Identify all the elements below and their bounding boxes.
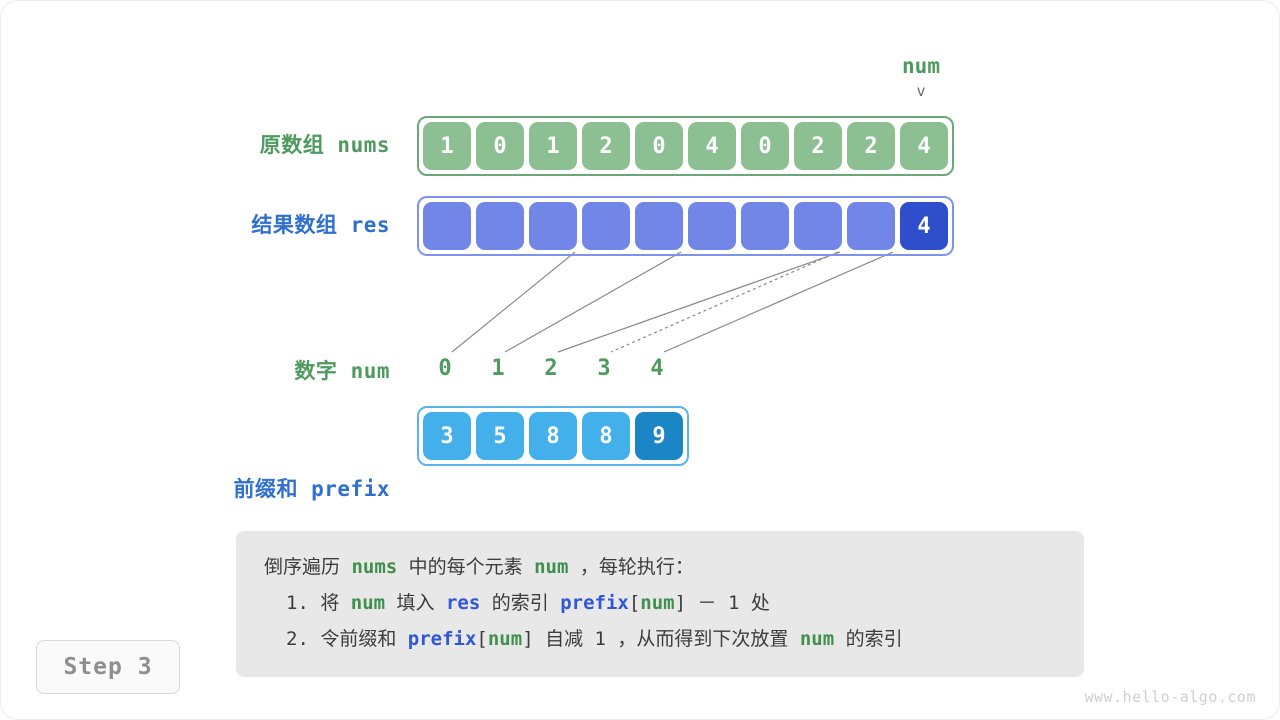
caption-keyword-num: num xyxy=(800,628,834,650)
res-cell xyxy=(476,202,524,250)
caption-keyword-num: num xyxy=(534,556,568,578)
num-tick: 2 xyxy=(527,356,575,381)
caption-text: ，每轮执行： xyxy=(568,556,693,578)
caption-text: 2. 令前缀和 xyxy=(286,628,408,650)
num-pointer: num v xyxy=(876,54,966,99)
num-tick: 0 xyxy=(421,356,469,381)
caption-keyword-num: num xyxy=(640,592,674,614)
res-cell xyxy=(847,202,895,250)
connector-line-num1 xyxy=(505,252,681,352)
caption-text: ] 自减 1 ，从而得到下次放置 xyxy=(522,628,800,650)
caption-keyword-prefix: prefix xyxy=(560,592,629,614)
prefix-cell: 8 xyxy=(582,412,630,460)
connector-line-num0 xyxy=(452,252,575,352)
connector-line-num2 xyxy=(558,252,840,352)
step-badge: Step 3 xyxy=(36,640,180,694)
prefix-cell: 3 xyxy=(423,412,471,460)
res-cell-highlighted: 4 xyxy=(900,202,948,250)
prefix-cell: 5 xyxy=(476,412,524,460)
chevron-down-icon: v xyxy=(876,84,966,99)
res-cell xyxy=(741,202,789,250)
num-tick: 4 xyxy=(633,356,681,381)
diagram-canvas: num v 原数组 nums 1 0 1 2 0 4 0 2 2 4 结果数组 … xyxy=(0,0,1280,720)
prefix-array: 3 5 8 8 9 xyxy=(417,406,689,466)
nums-cell: 4 xyxy=(900,122,948,170)
caption-text: ] － 1 处 xyxy=(675,592,770,614)
caption-text: 倒序遍历 xyxy=(264,556,351,578)
num-tick: 1 xyxy=(474,356,522,381)
res-cell xyxy=(529,202,577,250)
num-row-label: 数字 num xyxy=(160,358,390,385)
num-tick: 3 xyxy=(580,356,628,381)
caption-text: 1. 将 xyxy=(286,592,351,614)
nums-cell: 0 xyxy=(476,122,524,170)
caption-line-3: 2. 令前缀和 prefix[num] 自减 1 ，从而得到下次放置 num 的… xyxy=(264,621,1060,657)
nums-row-label: 原数组 nums xyxy=(160,132,390,159)
nums-cell: 2 xyxy=(847,122,895,170)
watermark: www.hello-algo.com xyxy=(1084,688,1256,706)
nums-cell: 0 xyxy=(741,122,789,170)
res-array: 4 xyxy=(417,196,954,256)
res-cell xyxy=(582,202,630,250)
res-cell xyxy=(688,202,736,250)
prefix-cell: 8 xyxy=(529,412,577,460)
connector-line-num4 xyxy=(664,252,893,352)
caption-keyword-nums: nums xyxy=(351,556,397,578)
res-cell xyxy=(635,202,683,250)
num-pointer-label: num xyxy=(876,54,966,78)
nums-cell: 1 xyxy=(529,122,577,170)
caption-line-2: 1. 将 num 填入 res 的索引 prefix[num] － 1 处 xyxy=(264,585,1060,621)
nums-cell: 2 xyxy=(794,122,842,170)
nums-cell: 2 xyxy=(582,122,630,170)
res-cell xyxy=(423,202,471,250)
caption-text: 的索引 xyxy=(834,628,902,650)
prefix-cell-highlighted: 9 xyxy=(635,412,683,460)
nums-cell: 4 xyxy=(688,122,736,170)
nums-array: 1 0 1 2 0 4 0 2 2 4 xyxy=(417,116,954,176)
caption-keyword-num: num xyxy=(488,628,522,650)
caption-keyword-num: num xyxy=(351,592,385,614)
caption-text: [ xyxy=(476,628,487,650)
caption-keyword-prefix: prefix xyxy=(408,628,477,650)
caption-text: [ xyxy=(629,592,640,614)
caption-text: 填入 xyxy=(385,592,446,614)
caption-box: 倒序遍历 nums 中的每个元素 num ，每轮执行： 1. 将 num 填入 … xyxy=(236,531,1084,677)
nums-cell: 1 xyxy=(423,122,471,170)
prefix-row-label-line1: 前缀和 prefix xyxy=(150,476,390,503)
res-row-label: 结果数组 res xyxy=(160,212,390,239)
res-cell xyxy=(794,202,842,250)
caption-line-1: 倒序遍历 nums 中的每个元素 num ，每轮执行： xyxy=(264,549,1060,585)
caption-text: 的索引 xyxy=(480,592,560,614)
caption-text: 中的每个元素 xyxy=(397,556,534,578)
connector-line-num3 xyxy=(611,252,838,352)
nums-cell: 0 xyxy=(635,122,683,170)
caption-keyword-res: res xyxy=(446,592,480,614)
num-tick-row: 0 1 2 3 4 xyxy=(421,356,681,381)
